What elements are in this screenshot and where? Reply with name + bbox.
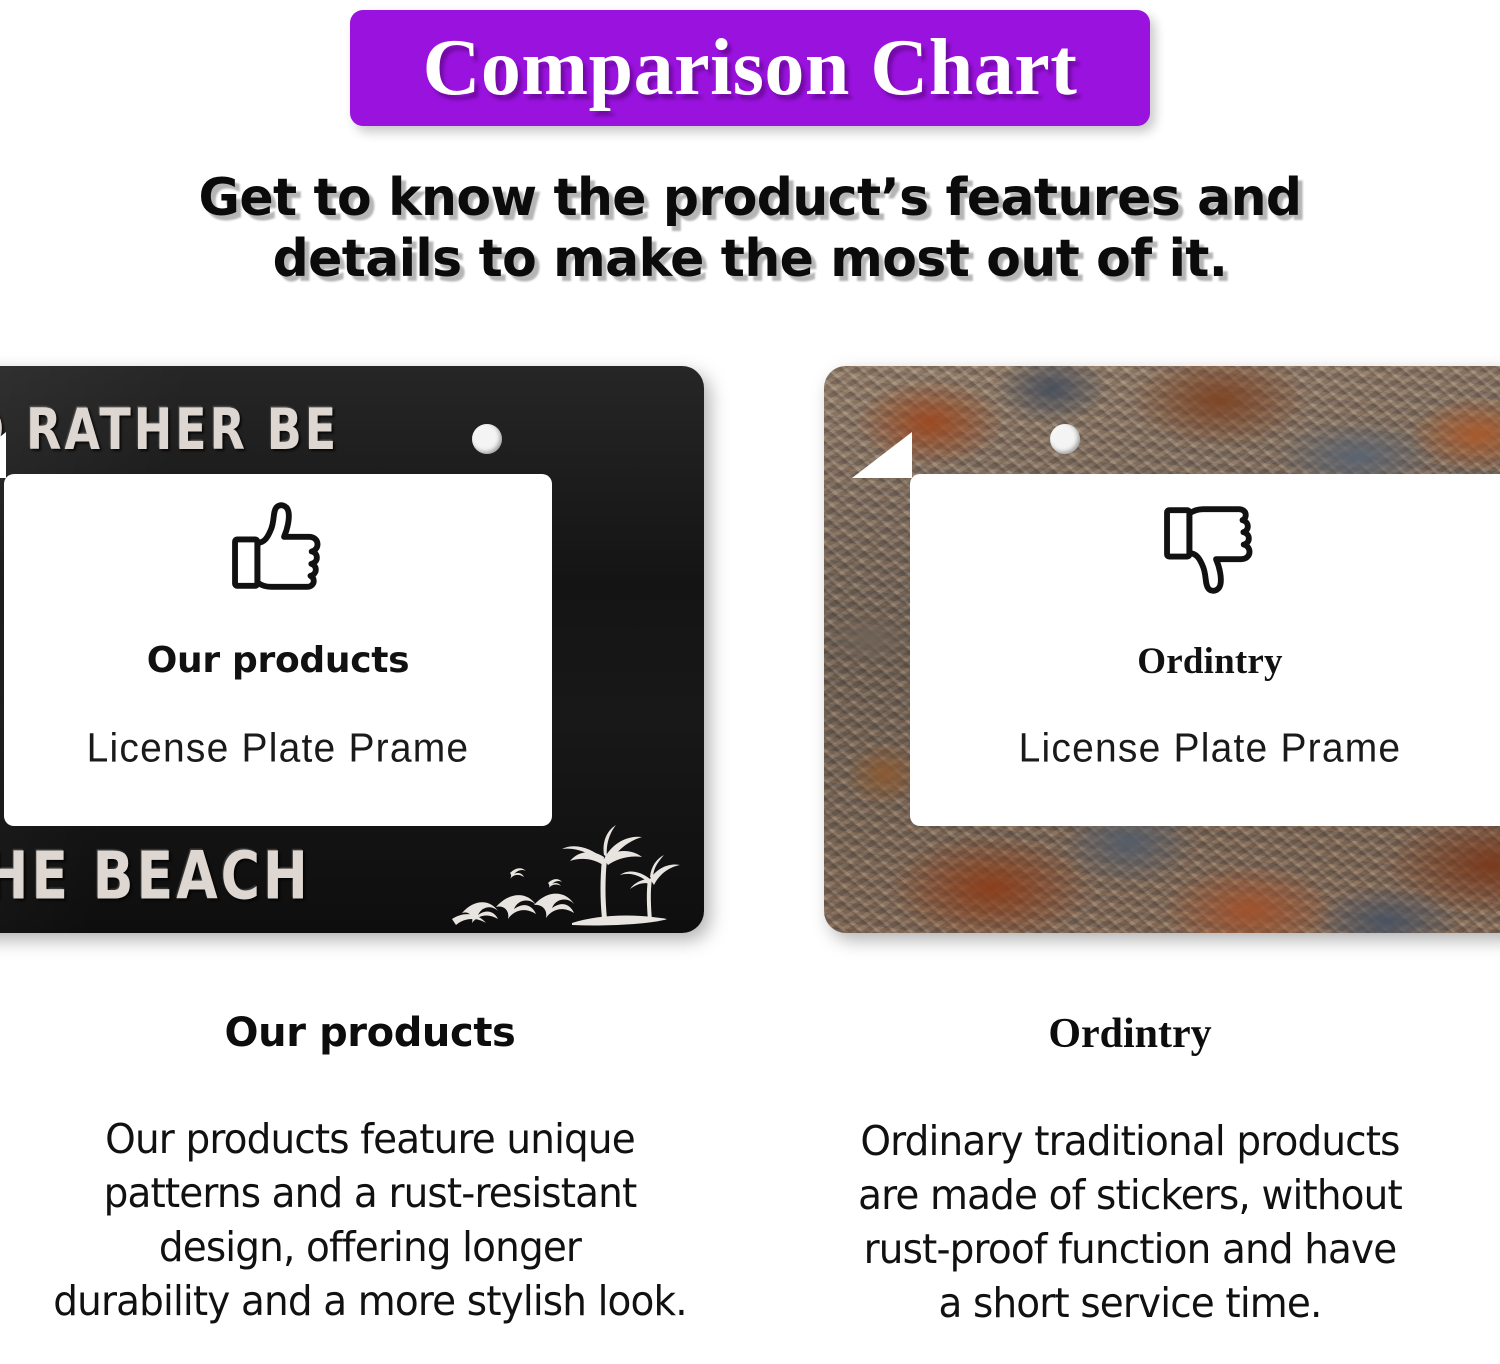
window-heading-right: Ordintry <box>910 640 1500 683</box>
thumbs-up-icon <box>223 492 333 604</box>
description-line: design, offering longer <box>38 1220 703 1274</box>
corner-bevel <box>0 432 6 478</box>
mounting-hole <box>472 424 502 454</box>
mounting-hole <box>1050 424 1080 454</box>
our-product-details-column: Our products Our products feature unique… <box>20 1010 720 1328</box>
ordinary-product-license-plate-frame: Ordintry License Plate Prame <box>824 366 1500 933</box>
thumbs-down-icon <box>1155 492 1265 604</box>
description-line: patterns and a rust-resistant <box>38 1166 703 1220</box>
plate-window-left: Our products License Plate Prame <box>4 474 552 826</box>
product-images-row: D RATHER BE THE BEACH <box>0 366 1500 956</box>
column-description-left: Our products feature unique patterns and… <box>38 1112 703 1328</box>
page-title: Comparison Chart <box>423 28 1078 108</box>
ordinary-product-details-column: Ordintry Ordinary traditional products a… <box>780 1010 1480 1330</box>
column-heading-right: Ordintry <box>780 1010 1480 1058</box>
window-subtext-right: License Plate Prame <box>910 726 1500 772</box>
description-line: a short service time. <box>798 1276 1463 1330</box>
comparison-chart-page: Comparison Chart Get to know the product… <box>0 0 1500 1364</box>
frame-bottom-engraved-text: THE BEACH <box>0 838 311 915</box>
frame-top-engraved-text: D RATHER BE <box>0 397 339 463</box>
description-line: durability and a more stylish look. <box>38 1274 703 1328</box>
window-subtext-left: License Plate Prame <box>4 726 552 772</box>
description-line: are made of stickers, without <box>798 1168 1463 1222</box>
title-banner: Comparison Chart <box>350 10 1150 126</box>
column-description-right: Ordinary traditional products are made o… <box>798 1114 1463 1330</box>
subtitle: Get to know the product’s features and d… <box>120 168 1381 291</box>
column-heading-left: Our products <box>20 1010 720 1056</box>
subtitle-line-2: details to make the most out of it. <box>120 229 1381 290</box>
description-line: Our products feature unique <box>38 1112 703 1166</box>
description-line: rust-proof function and have <box>798 1222 1463 1276</box>
description-line: Ordinary traditional products <box>798 1114 1463 1168</box>
corner-bevel <box>852 432 912 478</box>
our-product-license-plate-frame: D RATHER BE THE BEACH <box>0 366 704 933</box>
subtitle-line-1: Get to know the product’s features and <box>120 168 1381 229</box>
plate-window-right: Ordintry License Plate Prame <box>910 474 1500 826</box>
window-heading-left: Our products <box>4 640 552 681</box>
